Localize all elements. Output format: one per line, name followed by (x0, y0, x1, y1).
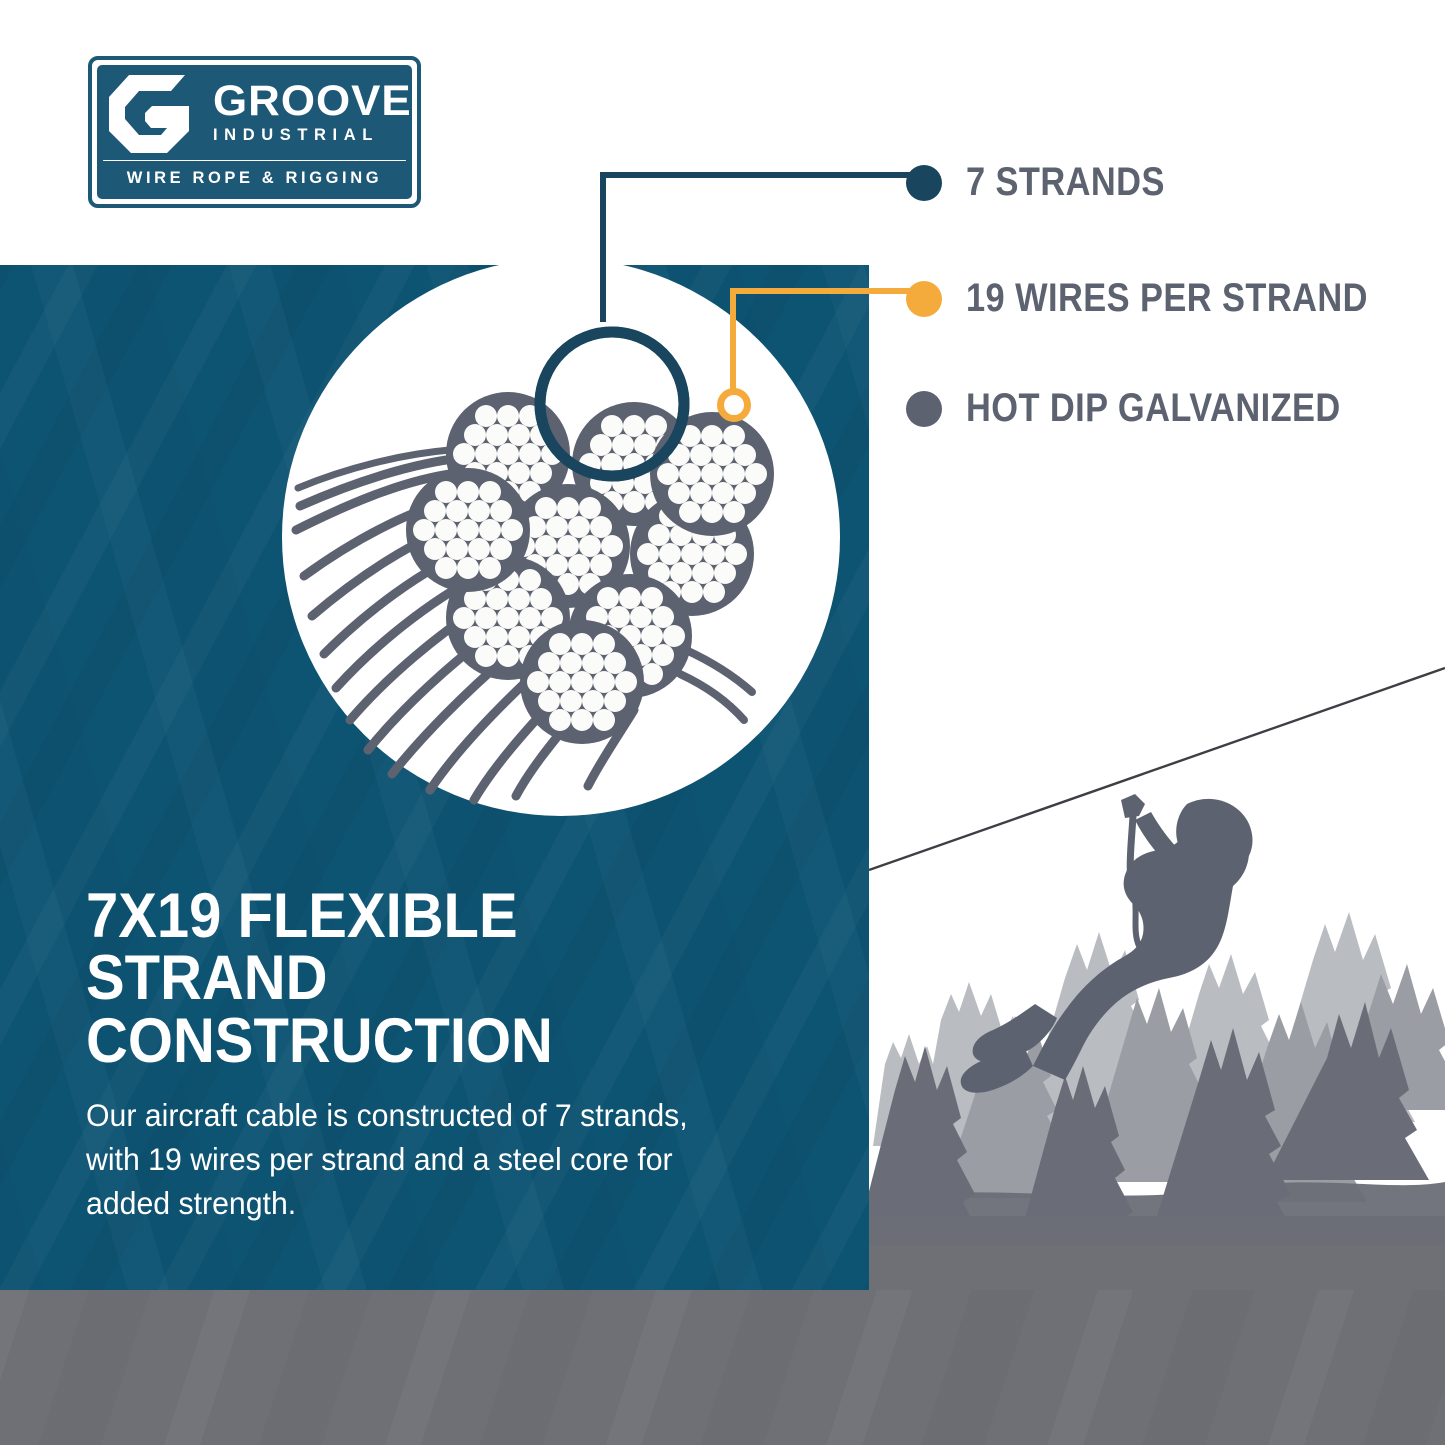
logo-top-row: GROOVE INDUSTRIAL (101, 69, 408, 157)
page-title: 7X19 FLEXIBLE STRAND CONSTRUCTION (86, 885, 785, 1072)
callout-label-strands: 7 STRANDS (966, 160, 1165, 205)
callout-strands[interactable]: 7 STRANDS (906, 160, 1197, 205)
logo-wordmark: GROOVE INDUSTRIAL (213, 81, 414, 146)
callout-dot-wires (906, 281, 942, 317)
callout-wires-per-strand[interactable]: 19 WIRES PER STRAND (906, 276, 1433, 321)
zipline-scene (869, 660, 1445, 1290)
logo-name: GROOVE (213, 81, 412, 122)
callout-dot-galvanized (906, 391, 942, 427)
logo-plate: GROOVE INDUSTRIAL WIRE ROPE & RIGGING (97, 65, 412, 199)
leader-line-wires-vertical (730, 288, 736, 401)
callout-dot-strands (906, 165, 942, 201)
brand-logo[interactable]: GROOVE INDUSTRIAL WIRE ROPE & RIGGING (88, 56, 421, 208)
leader-line-strands-horizontal (600, 172, 912, 178)
logo-tagline: WIRE ROPE & RIGGING (101, 161, 408, 195)
bottom-bar (0, 1290, 1445, 1445)
leader-line-wires-horizontal (730, 288, 912, 294)
logo-subname: INDUSTRIAL (213, 126, 408, 145)
scene-ground-skirt (869, 1245, 1445, 1293)
wire-rope-diagram (282, 258, 852, 828)
groove-g-icon (101, 69, 201, 157)
callout-galvanized[interactable]: HOT DIP GALVANIZED (906, 386, 1402, 431)
leader-line-strands-vertical (600, 172, 606, 322)
callout-label-galvanized: HOT DIP GALVANIZED (966, 386, 1341, 431)
callout-label-wires: 19 WIRES PER STRAND (966, 276, 1368, 321)
wire-marker-ring-icon (717, 388, 751, 422)
bottom-bar-stripes (0, 1290, 1445, 1445)
body-description: Our aircraft cable is constructed of 7 s… (86, 1093, 720, 1225)
infographic-canvas: GROOVE INDUSTRIAL WIRE ROPE & RIGGING (0, 0, 1445, 1445)
